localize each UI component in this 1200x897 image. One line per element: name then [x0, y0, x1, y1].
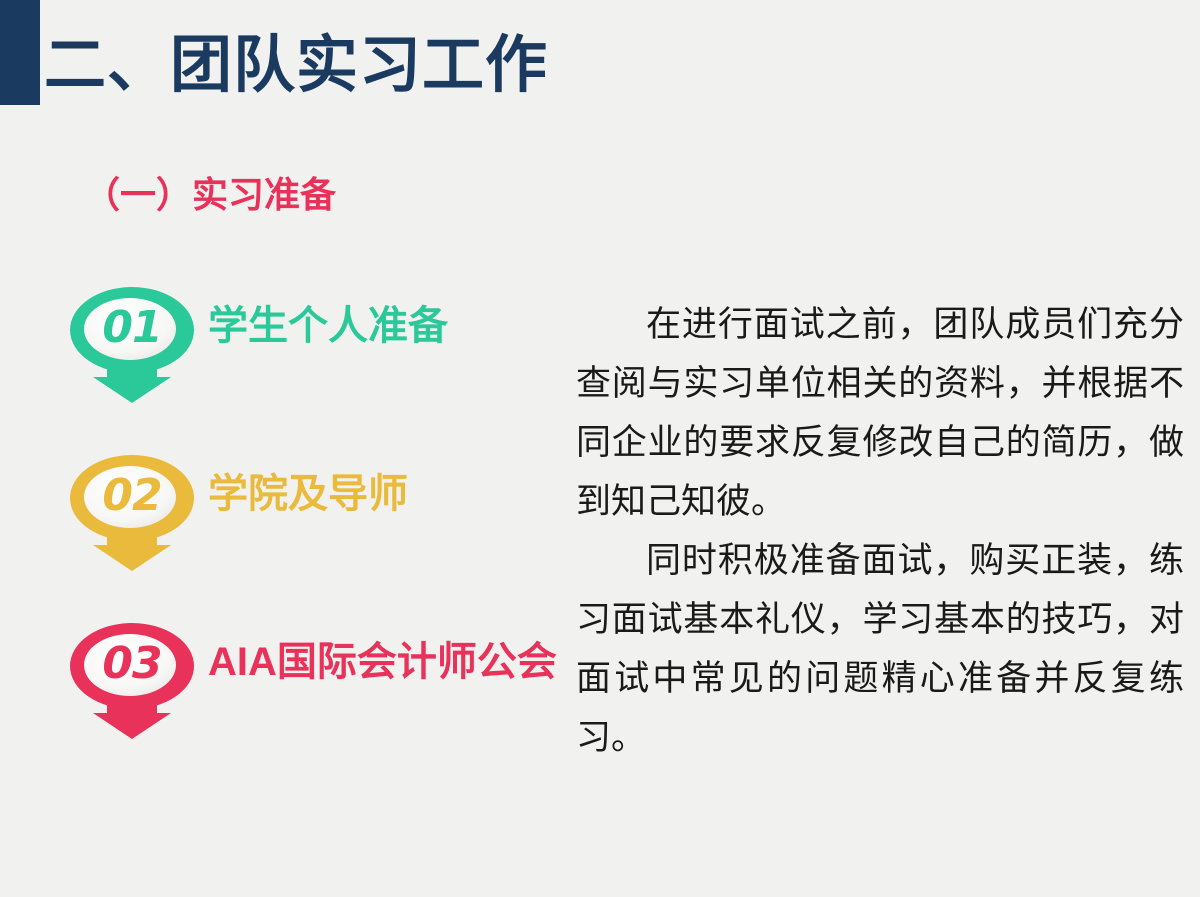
body-copy: 在进行面试之前，团队成员们充分查阅与实习单位相关的资料，并根据不同企业的要求反复…	[576, 296, 1184, 768]
pin-label: AIA国际会计师公会	[208, 634, 557, 690]
pin-list: 01 学生个人准备 02	[58, 280, 578, 784]
list-item[interactable]: 01 学生个人准备	[58, 280, 578, 448]
list-item[interactable]: 02 学院及导师	[58, 448, 578, 616]
pin-label: 学生个人准备	[208, 298, 448, 354]
pin-marker-icon	[68, 453, 196, 571]
pin-label: 学院及导师	[208, 466, 408, 522]
pin-marker-icon	[68, 285, 196, 403]
page-title: 二、团队实习工作	[44, 27, 548, 105]
body-paragraph-2: 同时积极准备面试，购买正装，练习面试基本礼仪，学习基本的技巧，对面试中常见的问题…	[576, 532, 1184, 768]
body-paragraph-1: 在进行面试之前，团队成员们充分查阅与实习单位相关的资料，并根据不同企业的要求反复…	[576, 296, 1184, 532]
section-heading: （一）实习准备	[84, 172, 336, 218]
list-item[interactable]: 03 AIA国际会计师公会	[58, 616, 578, 784]
navy-accent-bar	[0, 0, 40, 105]
pin-marker-icon	[68, 621, 196, 739]
slide-root: 二、团队实习工作 （一）实习准备	[0, 0, 1200, 897]
